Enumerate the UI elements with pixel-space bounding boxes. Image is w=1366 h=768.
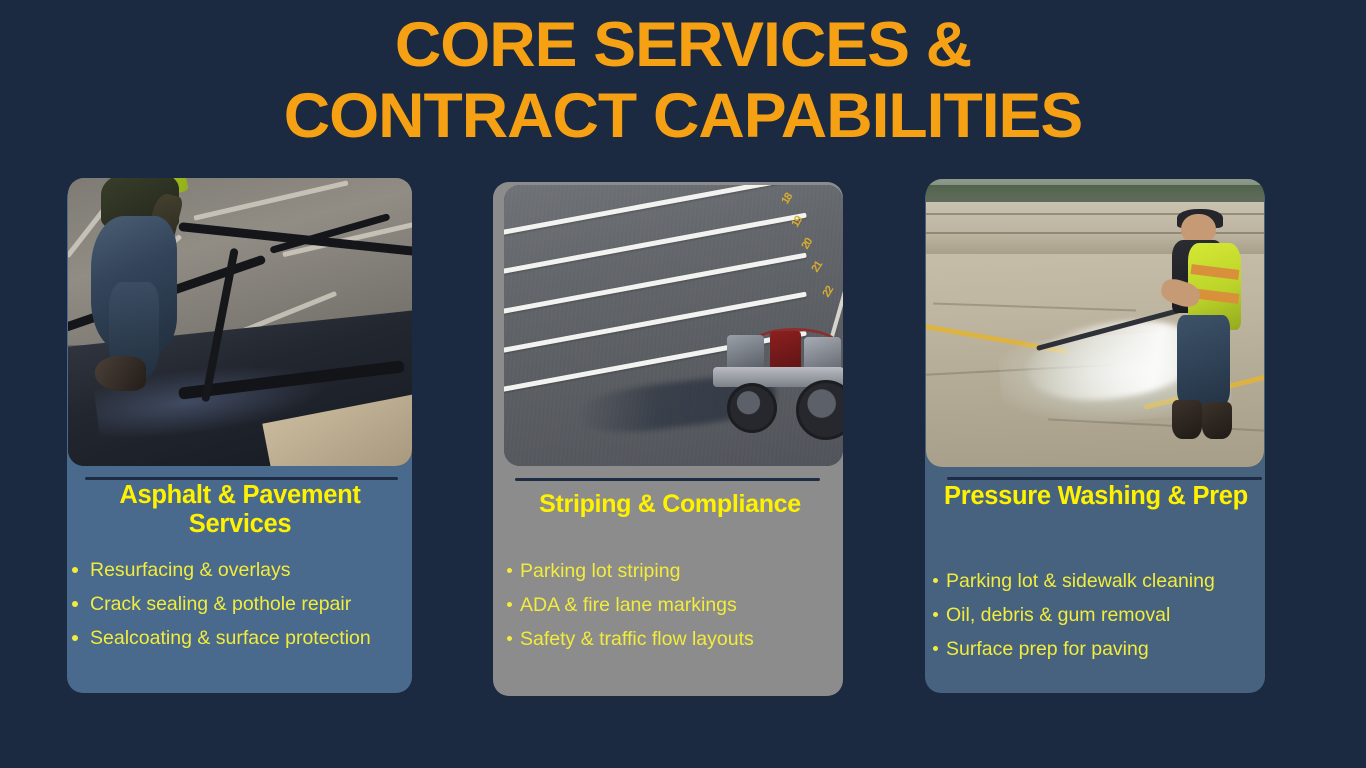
worker-figure: [1142, 214, 1257, 456]
page-title: CORE SERVICES & CONTRACT CAPABILITIES: [0, 14, 1366, 148]
page-title-line-1: CORE SERVICES &: [0, 14, 1366, 77]
list-item: Safety & traffic flow layouts: [505, 622, 855, 656]
list-item: Sealcoating & surface protection: [68, 621, 418, 655]
worker-figure: [89, 181, 192, 400]
card-bullets-pressure-washing: Parking lot & sidewalk cleaning Oil, deb…: [931, 564, 1281, 666]
list-item: ADA & fire lane markings: [505, 588, 855, 622]
striping-machine: [707, 331, 843, 421]
card-divider-striping: [515, 478, 820, 481]
parking-lot-striping-photo: 18 19 20 21 22: [504, 185, 843, 466]
card-divider-asphalt: [85, 477, 398, 480]
worker-pants: [1177, 315, 1230, 407]
list-item: Parking lot & sidewalk cleaning: [931, 564, 1281, 598]
card-bullets-asphalt: Resurfacing & overlays Crack sealing & p…: [68, 553, 418, 655]
list-item: Oil, debris & gum removal: [931, 598, 1281, 632]
pressure-washing-photo: [926, 179, 1264, 467]
card-title-striping: Striping & Compliance: [500, 490, 840, 518]
card-divider-pressure-washing: [947, 477, 1262, 480]
worker-boot: [1172, 400, 1202, 439]
page-title-line-2: CONTRACT CAPABILITIES: [0, 85, 1366, 148]
asphalt-sealcoating-photo: [68, 178, 412, 466]
photo-inner: [926, 179, 1264, 467]
photo-inner: [68, 178, 412, 466]
card-title-pressure-washing: Pressure Washing & Prep: [928, 482, 1264, 511]
card-bullets-striping: Parking lot striping ADA & fire lane mar…: [505, 554, 855, 656]
worker-boot: [95, 356, 147, 391]
list-item: Parking lot striping: [505, 554, 855, 588]
list-item: Crack sealing & pothole repair: [68, 587, 418, 621]
list-item: Resurfacing & overlays: [68, 553, 418, 587]
worker-boot: [1202, 402, 1232, 438]
slide-canvas: CORE SERVICES & CONTRACT CAPABILITIES: [0, 0, 1366, 768]
list-item: Surface prep for paving: [931, 632, 1281, 666]
card-title-asphalt: Asphalt & Pavement Services: [70, 481, 410, 538]
photo-inner: 18 19 20 21 22: [504, 185, 843, 466]
